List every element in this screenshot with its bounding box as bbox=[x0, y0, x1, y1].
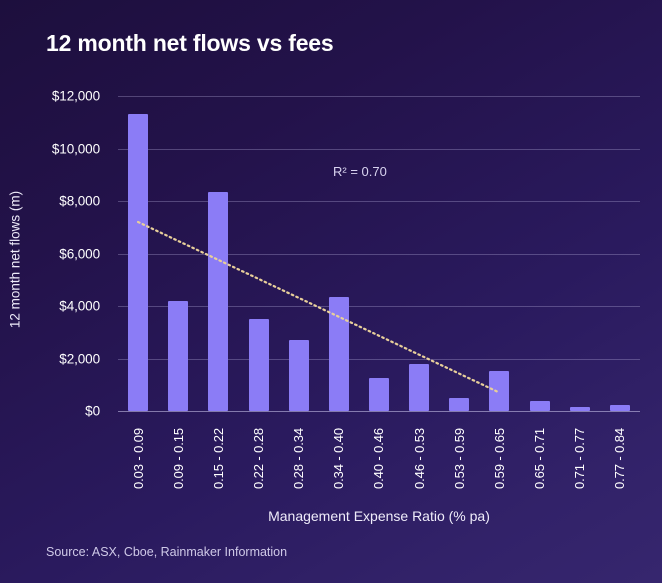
y-tick-label: $10,000 bbox=[52, 141, 100, 156]
x-tick-label: 0.09 - 0.15 bbox=[158, 415, 198, 503]
y-tick-label: $6,000 bbox=[59, 246, 100, 261]
x-tick-label: 0.46 - 0.53 bbox=[399, 415, 439, 503]
y-axis-title: 12 month net flows (m) bbox=[8, 160, 23, 360]
bar[interactable] bbox=[449, 398, 469, 411]
bar[interactable] bbox=[289, 340, 309, 411]
x-tick-label: 0.71 - 0.77 bbox=[560, 415, 600, 503]
bar-slot bbox=[359, 96, 399, 411]
bar-slot bbox=[238, 96, 278, 411]
bar-slot bbox=[520, 96, 560, 411]
bar-slot bbox=[319, 96, 359, 411]
x-tick-label-text: 0.77 - 0.84 bbox=[612, 428, 627, 489]
y-tick-label: $0 bbox=[85, 404, 100, 419]
x-tick-label-text: 0.71 - 0.77 bbox=[572, 428, 587, 489]
bar[interactable] bbox=[369, 378, 389, 411]
bar[interactable] bbox=[610, 405, 630, 411]
bar[interactable] bbox=[128, 114, 148, 411]
bar[interactable] bbox=[249, 319, 269, 411]
x-tick-label-text: 0.40 - 0.46 bbox=[372, 428, 387, 489]
x-tick-label-text: 0.59 - 0.65 bbox=[492, 428, 507, 489]
x-tick-label: 0.15 - 0.22 bbox=[198, 415, 238, 503]
x-tick-label: 0.77 - 0.84 bbox=[600, 415, 640, 503]
x-tick-label-text: 0.46 - 0.53 bbox=[412, 428, 427, 489]
plot-area bbox=[118, 96, 640, 411]
x-tick-label-text: 0.34 - 0.40 bbox=[331, 428, 346, 489]
x-tick-label: 0.40 - 0.46 bbox=[359, 415, 399, 503]
gridline bbox=[118, 411, 640, 412]
bar-slot bbox=[600, 96, 640, 411]
x-tick-label: 0.59 - 0.65 bbox=[479, 415, 519, 503]
x-tick-label: 0.28 - 0.34 bbox=[279, 415, 319, 503]
x-tick-label-text: 0.28 - 0.34 bbox=[291, 428, 306, 489]
bar[interactable] bbox=[530, 401, 550, 411]
y-tick-label: $12,000 bbox=[52, 89, 100, 104]
bar[interactable] bbox=[570, 407, 590, 411]
y-tick-label: $4,000 bbox=[59, 299, 100, 314]
bar-slot bbox=[479, 96, 519, 411]
r-squared-annotation: R² = 0.70 bbox=[333, 164, 387, 179]
bar-slot bbox=[279, 96, 319, 411]
chart-title: 12 month net flows vs fees bbox=[46, 30, 334, 57]
bar[interactable] bbox=[168, 301, 188, 411]
x-tick-label-text: 0.03 - 0.09 bbox=[131, 428, 146, 489]
bar[interactable] bbox=[208, 192, 228, 411]
source-note: Source: ASX, Cboe, Rainmaker Information bbox=[46, 545, 287, 559]
bar-slot bbox=[560, 96, 600, 411]
bar[interactable] bbox=[489, 371, 509, 411]
bars-layer bbox=[118, 96, 640, 411]
x-tick-label: 0.22 - 0.28 bbox=[238, 415, 278, 503]
x-tick-label-text: 0.22 - 0.28 bbox=[251, 428, 266, 489]
bar[interactable] bbox=[329, 297, 349, 411]
x-tick-label-text: 0.53 - 0.59 bbox=[452, 428, 467, 489]
y-tick-label: $2,000 bbox=[59, 351, 100, 366]
x-tick-label: 0.53 - 0.59 bbox=[439, 415, 479, 503]
x-axis-tick-labels: 0.03 - 0.090.09 - 0.150.15 - 0.220.22 - … bbox=[118, 415, 640, 503]
bar-slot bbox=[198, 96, 238, 411]
bar[interactable] bbox=[409, 364, 429, 411]
chart-card: 12 month net flows vs fees $0$2,000$4,00… bbox=[0, 0, 662, 583]
x-tick-label: 0.65 - 0.71 bbox=[520, 415, 560, 503]
x-tick-label: 0.34 - 0.40 bbox=[319, 415, 359, 503]
bar-slot bbox=[399, 96, 439, 411]
x-tick-label-text: 0.09 - 0.15 bbox=[171, 428, 186, 489]
bar-slot bbox=[158, 96, 198, 411]
x-tick-label-text: 0.65 - 0.71 bbox=[532, 428, 547, 489]
bar-slot bbox=[118, 96, 158, 411]
y-tick-label: $8,000 bbox=[59, 194, 100, 209]
x-tick-label-text: 0.15 - 0.22 bbox=[211, 428, 226, 489]
x-axis-title: Management Expense Ratio (% pa) bbox=[118, 508, 640, 524]
bar-slot bbox=[439, 96, 479, 411]
x-tick-label: 0.03 - 0.09 bbox=[118, 415, 158, 503]
